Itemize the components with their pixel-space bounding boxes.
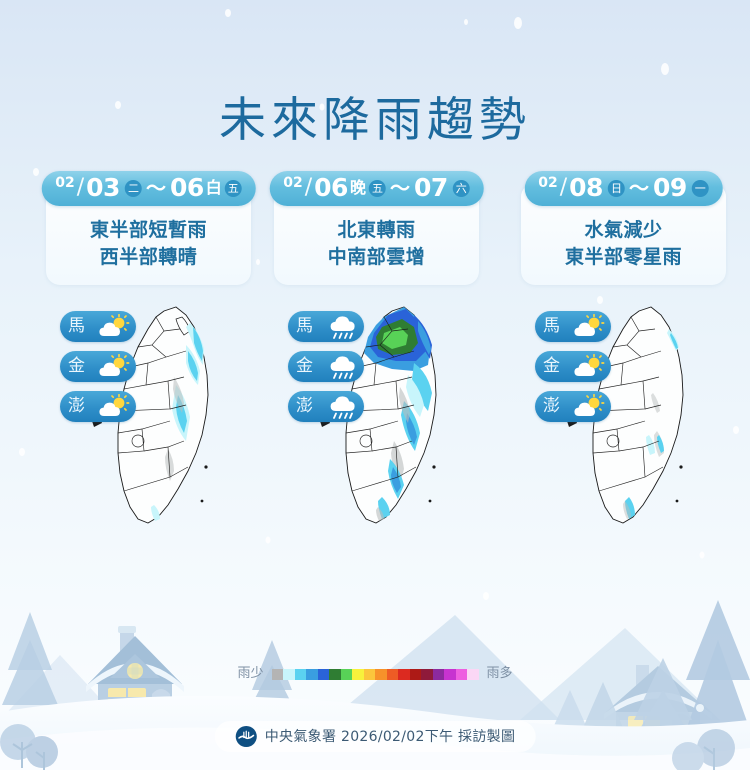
date-end-day: 06 — [170, 175, 204, 201]
date-start-weekday: 二 — [125, 180, 142, 197]
island-chip-matsu: 馬 — [535, 311, 611, 342]
legend-color-bar — [272, 669, 479, 680]
desc-line-2: 西半部轉晴 — [52, 244, 245, 271]
date-range-tilde: ～ — [629, 175, 649, 201]
sun-behind-cloud-icon — [572, 314, 606, 340]
island-chip-penghu: 澎 — [535, 391, 611, 422]
island-label: 馬 — [296, 318, 313, 335]
island-label: 金 — [296, 358, 313, 375]
footer-credit: 中央氣象署 2026/02/02下午 採訪製圖 — [215, 721, 536, 752]
cwa-seal-icon — [235, 725, 258, 748]
island-chip-matsu: 馬 — [288, 311, 364, 342]
sun-behind-cloud-icon — [97, 354, 131, 380]
desc-line-1: 水氣減少 — [527, 217, 720, 244]
legend-low-label: 雨少 — [237, 666, 263, 682]
island-chip-penghu: 澎 — [60, 391, 136, 422]
island-chip-kinmen: 金 — [60, 351, 136, 382]
date-start-weekday: 五 — [369, 180, 386, 197]
island-chip-list: 馬 金 — [60, 311, 146, 431]
infographic-root: 未來降雨趨勢 02 / 03 二 ～ 06 白 五 東半部短暫雨 西半部轉晴 馬 — [0, 0, 750, 770]
sun-behind-cloud-icon — [572, 394, 606, 420]
legend-swatch — [341, 669, 353, 680]
legend-swatch — [306, 669, 318, 680]
legend-swatch — [272, 669, 284, 680]
forecast-description: 東半部短暫雨 西半部轉晴 — [52, 217, 245, 271]
legend-swatch — [467, 669, 479, 680]
island-label: 澎 — [68, 398, 85, 415]
date-slash: / — [560, 175, 567, 201]
island-label: 馬 — [543, 318, 560, 335]
date-range-tilde: ～ — [390, 175, 410, 201]
legend-swatch — [375, 669, 387, 680]
forecast-card: 02 / 08 日 ～ 09 一 水氣減少 東半部零星雨 — [521, 183, 726, 285]
island-chip-list: 馬 金 — [288, 311, 374, 431]
legend-swatch — [410, 669, 422, 680]
island-label: 澎 — [296, 398, 313, 415]
legend-swatch — [421, 669, 433, 680]
date-start-day: 06 — [314, 175, 348, 201]
date-start-weekday: 日 — [608, 180, 625, 197]
forecast-panel-2: 02 / 06 晚 五 ～ 07 六 北東轉雨 中南部雲增 馬 — [274, 183, 479, 285]
legend-swatch — [433, 669, 445, 680]
legend-swatch — [295, 669, 307, 680]
island-label: 金 — [543, 358, 560, 375]
rain-cloud-icon — [325, 394, 359, 420]
island-chip-penghu: 澎 — [288, 391, 364, 422]
date-start-day: 03 — [86, 175, 120, 201]
legend-swatch — [387, 669, 399, 680]
desc-line-1: 北東轉雨 — [280, 217, 473, 244]
island-chip-matsu: 馬 — [60, 311, 136, 342]
legend-swatch — [398, 669, 410, 680]
forecast-card: 02 / 03 二 ～ 06 白 五 東半部短暫雨 西半部轉晴 — [46, 183, 251, 285]
desc-line-2: 東半部零星雨 — [527, 244, 720, 271]
island-label: 馬 — [68, 318, 85, 335]
rainfall-legend: 雨少 雨多 — [0, 666, 750, 682]
legend-swatch — [364, 669, 376, 680]
date-range-tilde: ～ — [146, 175, 166, 201]
date-end-day: 07 — [414, 175, 448, 201]
date-start-suffix: 晚 — [350, 175, 366, 201]
forecast-panel-1: 02 / 03 二 ～ 06 白 五 東半部短暫雨 西半部轉晴 馬 — [46, 183, 251, 285]
island-label: 金 — [68, 358, 85, 375]
desc-line-2: 中南部雲增 — [280, 244, 473, 271]
date-slash: / — [77, 175, 84, 201]
island-chip-kinmen: 金 — [535, 351, 611, 382]
forecast-description: 北東轉雨 中南部雲增 — [280, 217, 473, 271]
date-badge: 02 / 08 日 ～ 09 一 — [524, 171, 723, 206]
date-start-day: 08 — [569, 175, 603, 201]
date-end-weekday: 五 — [225, 180, 242, 197]
sun-behind-cloud-icon — [97, 314, 131, 340]
date-badge: 02 / 06 晚 五 ～ 07 六 — [269, 171, 484, 206]
date-month: 02 — [55, 170, 74, 196]
date-end-suffix: 白 — [206, 175, 222, 201]
forecast-panel-3: 02 / 08 日 ～ 09 一 水氣減少 東半部零星雨 馬 — [521, 183, 726, 285]
forecast-card: 02 / 06 晚 五 ～ 07 六 北東轉雨 中南部雲增 — [274, 183, 479, 285]
date-month: 02 — [283, 170, 302, 196]
legend-swatch — [318, 669, 330, 680]
island-chip-kinmen: 金 — [288, 351, 364, 382]
legend-swatch — [283, 669, 295, 680]
island-chip-list: 馬 金 — [535, 311, 621, 431]
sun-behind-cloud-icon — [97, 394, 131, 420]
date-end-day: 09 — [653, 175, 687, 201]
legend-swatch — [352, 669, 364, 680]
date-end-weekday: 一 — [692, 180, 709, 197]
rain-cloud-icon — [325, 354, 359, 380]
desc-line-1: 東半部短暫雨 — [52, 217, 245, 244]
sun-behind-cloud-icon — [572, 354, 606, 380]
rain-cloud-icon — [325, 314, 359, 340]
date-end-weekday: 六 — [453, 180, 470, 197]
date-month: 02 — [538, 170, 557, 196]
forecast-description: 水氣減少 東半部零星雨 — [527, 217, 720, 271]
footer-text: 中央氣象署 2026/02/02下午 採訪製圖 — [265, 728, 516, 746]
legend-swatch — [456, 669, 468, 680]
legend-swatch — [329, 669, 341, 680]
date-slash: / — [305, 175, 312, 201]
page-title: 未來降雨趨勢 — [0, 92, 750, 150]
legend-high-label: 雨多 — [487, 666, 513, 682]
legend-swatch — [444, 669, 456, 680]
island-label: 澎 — [543, 398, 560, 415]
date-badge: 02 / 03 二 ～ 06 白 五 — [41, 171, 256, 206]
